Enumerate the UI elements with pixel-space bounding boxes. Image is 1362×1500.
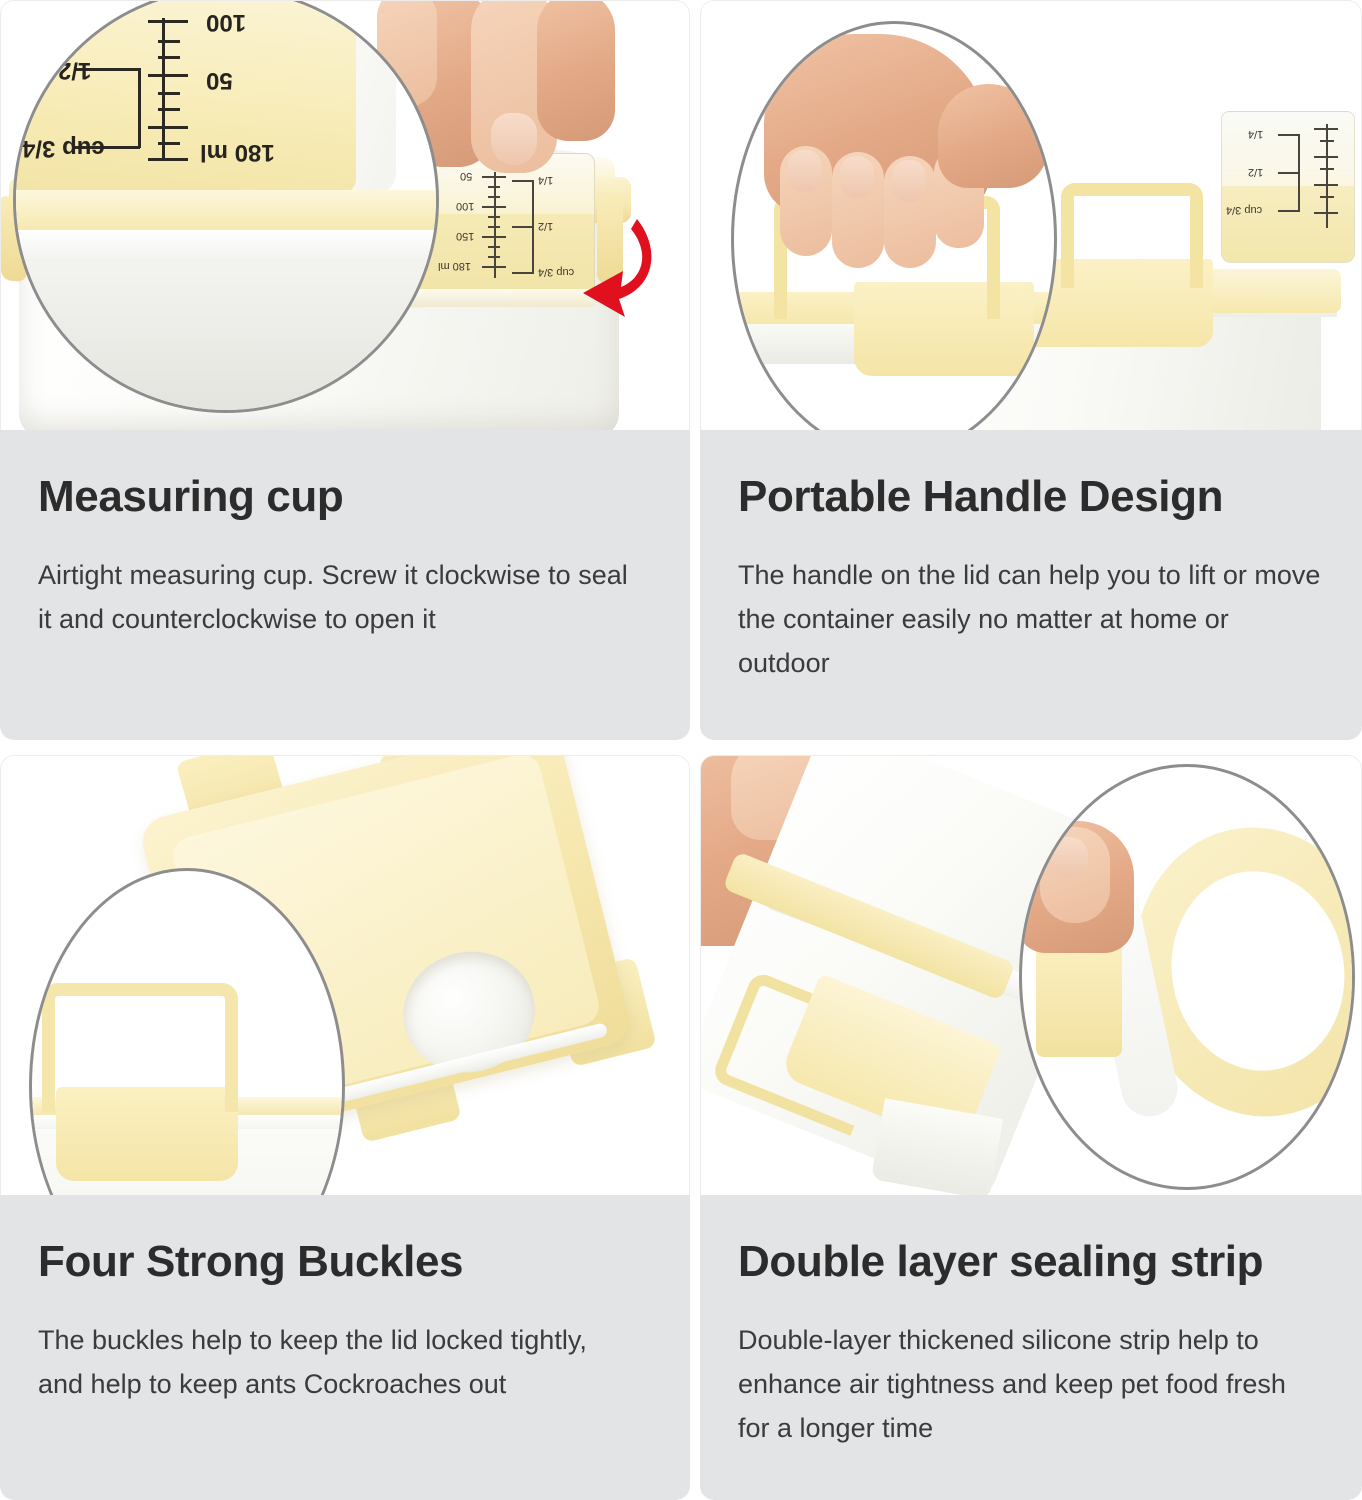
caption-portable-handle: Portable Handle Design The handle on the…: [700, 430, 1362, 740]
magnifier-circle-buckle: [29, 868, 345, 1195]
cup-mark-ml-180: 180 ml: [438, 260, 471, 272]
magnifier-mark-50: 50: [206, 66, 233, 94]
heading-four-strong-buckles: Four Strong Buckles: [38, 1239, 650, 1285]
cup-mark-frac-1-2: 1/2: [1248, 166, 1263, 178]
magnifier-circle-measuring-cup: 100 50 180 ml 1/2 cup 3/4: [13, 0, 439, 413]
body-double-layer-sealing-strip: Double-layer thickened silicone strip he…: [738, 1319, 1322, 1450]
body-portable-handle: The handle on the lid can help you to li…: [738, 554, 1322, 685]
cup-mark-frac-1-4: 1/4: [1248, 128, 1263, 140]
measuring-cup: 1/4 1/2 cup 3/4: [1221, 111, 1355, 263]
caption-four-strong-buckles: Four Strong Buckles The buckles help to …: [0, 1195, 690, 1500]
product-photo-portable-handle: 1/4 1/2 cup 3/4: [700, 0, 1362, 430]
magnifier-mark-100: 100: [206, 8, 246, 36]
body-four-strong-buckles: The buckles help to keep the lid locked …: [38, 1319, 638, 1406]
cup-mark-frac-1-4: 1/4: [538, 174, 553, 186]
carry-handle: [1061, 183, 1203, 288]
caption-double-layer-sealing-strip: Double layer sealing strip Double-layer …: [700, 1195, 1362, 1500]
body-measuring-cup: Airtight measuring cup. Screw it clockwi…: [38, 554, 638, 641]
heading-double-layer-sealing-strip: Double layer sealing strip: [738, 1239, 1322, 1285]
buckles-illustration: [1, 756, 689, 1195]
magnifier-mark-180-ml: 180 ml: [200, 138, 275, 166]
cup-mark-ml-50: 50: [460, 170, 472, 182]
feature-card-double-layer-sealing-strip: Double layer sealing strip Double-layer …: [700, 755, 1362, 1500]
feature-grid: 50 100 150 180 ml 1/4 1/2 cup 3/4: [0, 0, 1362, 1500]
product-photo-buckles: [0, 755, 690, 1195]
feature-card-measuring-cup: 50 100 150 180 ml 1/4 1/2 cup 3/4: [0, 0, 690, 740]
sealing-strip-illustration: [701, 756, 1361, 1195]
product-photo-sealing-strip: [700, 755, 1362, 1195]
feature-card-portable-handle: 1/4 1/2 cup 3/4: [700, 0, 1362, 740]
feature-card-four-strong-buckles: Four Strong Buckles The buckles help to …: [0, 755, 690, 1500]
measuring-cup-illustration: 50 100 150 180 ml 1/4 1/2 cup 3/4: [1, 1, 689, 430]
product-photo-measuring-cup: 50 100 150 180 ml 1/4 1/2 cup 3/4: [0, 0, 690, 430]
portable-handle-illustration: 1/4 1/2 cup 3/4: [701, 1, 1361, 430]
magnifier-mark-1-2: 1/2: [58, 56, 91, 84]
magnifier-circle-handle: [731, 21, 1057, 430]
cup-mark-ml-150: 150: [456, 230, 474, 242]
cup-mark-frac-1-2: 1/2: [538, 220, 553, 232]
cup-mark-ml-100: 100: [456, 200, 474, 212]
cup-mark-frac-3-4: cup 3/4: [1226, 204, 1262, 216]
magnifier-mark-cup-3-4: cup 3/4: [22, 134, 105, 162]
caption-measuring-cup: Measuring cup Airtight measuring cup. Sc…: [0, 430, 690, 740]
heading-measuring-cup: Measuring cup: [38, 474, 650, 520]
magnifier-circle-seal: [1019, 764, 1355, 1190]
heading-portable-handle: Portable Handle Design: [738, 474, 1322, 520]
rotate-arrow-icon: [567, 213, 663, 321]
